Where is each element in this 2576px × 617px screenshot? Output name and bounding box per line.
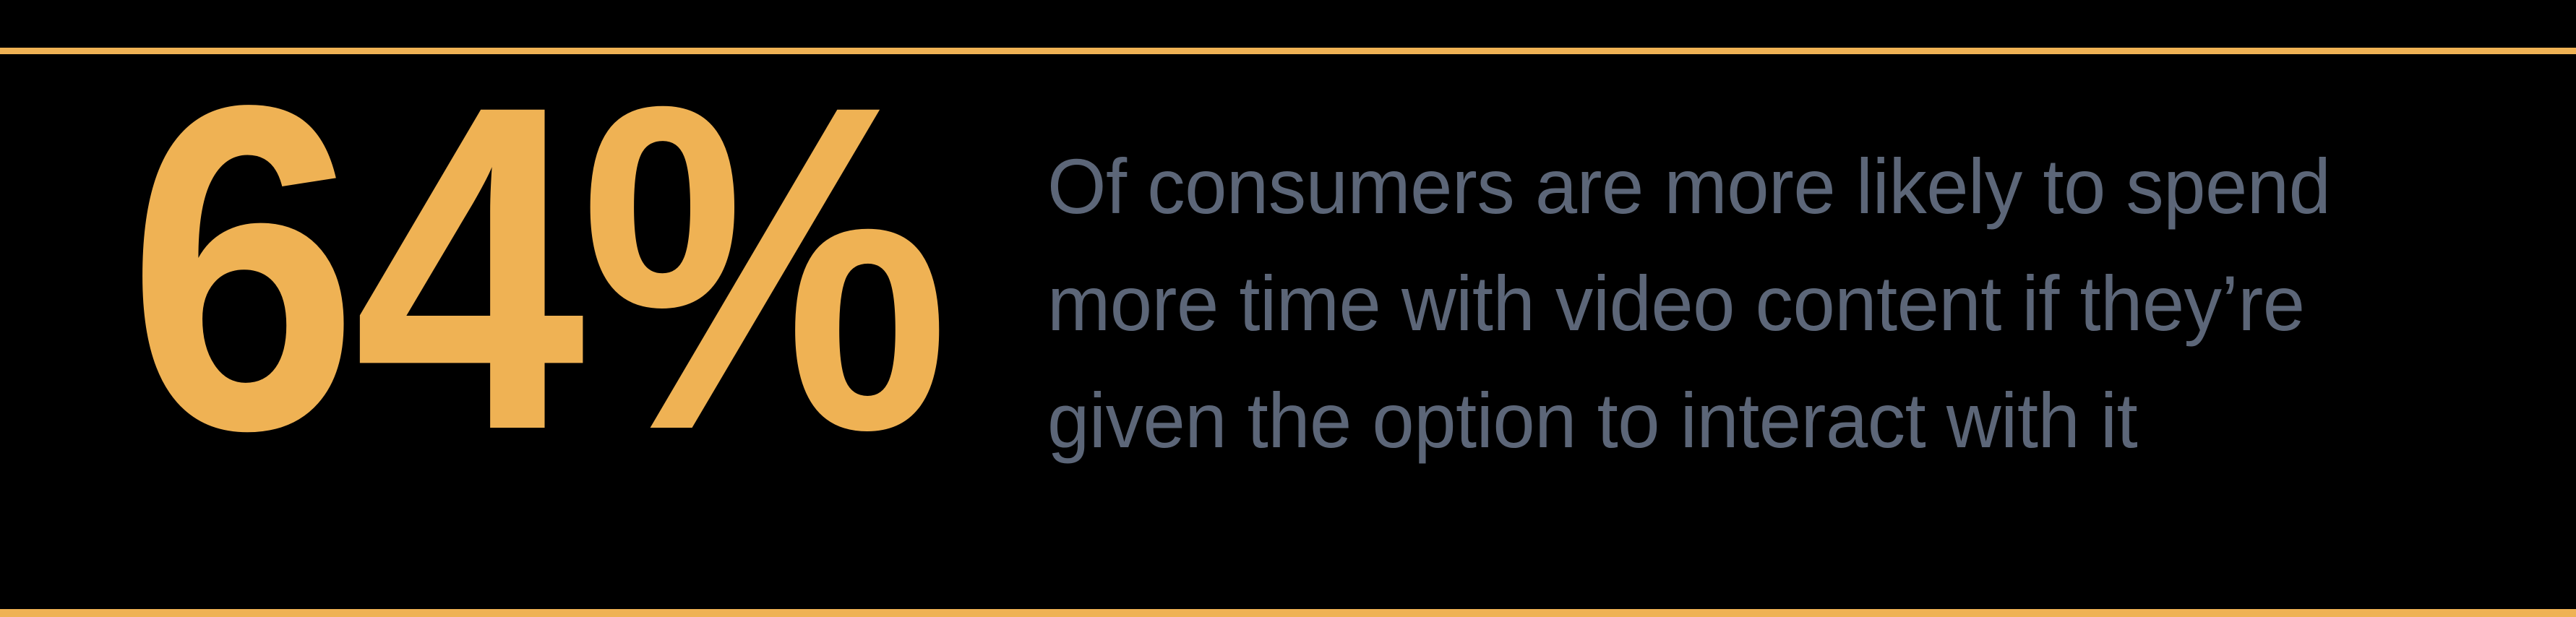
statistic-description: Of consumers are more likely to spend mo… <box>1047 128 2330 479</box>
description-line-3: given the option to interact with it <box>1047 362 2330 479</box>
description-line-1: Of consumers are more likely to spend <box>1047 128 2330 245</box>
statistic-content-row: 64% Of consumers are more likely to spen… <box>0 54 2576 609</box>
statistic-percentage-figure: 64% <box>127 87 945 448</box>
bottom-divider-rule <box>0 609 2576 617</box>
statistic-banner: 64% Of consumers are more likely to spen… <box>0 0 2576 617</box>
description-line-2: more time with video content if they’re <box>1047 245 2330 362</box>
